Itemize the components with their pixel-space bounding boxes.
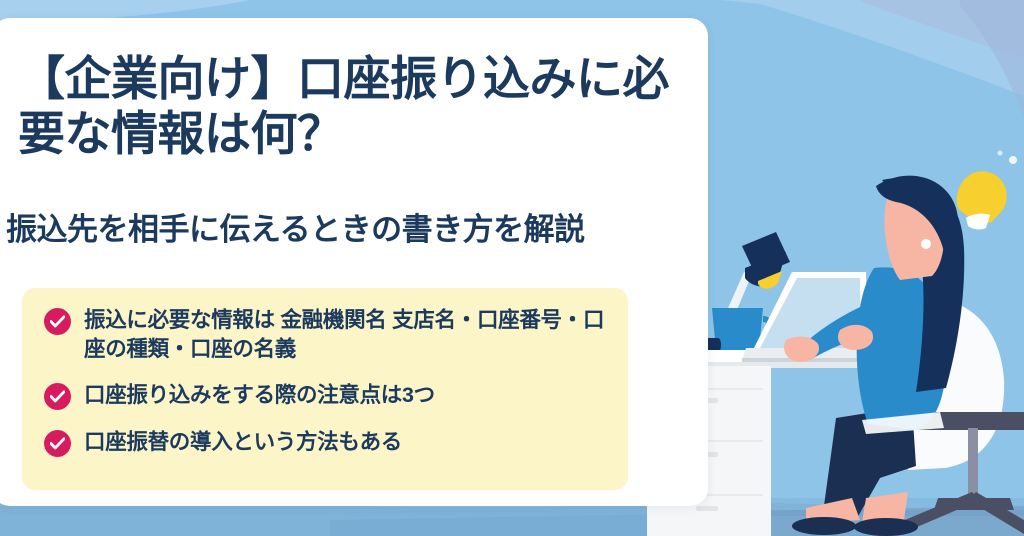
check-circle-icon <box>44 383 71 410</box>
shoe-right <box>854 518 918 536</box>
list-item-label: 口座振替の導入という方法もある <box>84 428 402 457</box>
shoe-left <box>792 517 856 535</box>
list-item: 口座振替の導入という方法もある <box>44 428 608 457</box>
lightbulb-idea-icon <box>957 151 1017 230</box>
list-item: 口座振り込みをする際の注意点は3つ <box>44 381 608 410</box>
key-points-panel: 振込に必要な情報は 金融機関名 支店名・口座番号・口座の種類・口座の名義 口座振… <box>22 288 628 490</box>
page-title: 【企業向け】口座振り込みに必要な情報は何？ <box>18 52 694 161</box>
hand-right <box>838 325 873 350</box>
list-item-label: 振込に必要な情報は 金融機関名 支店名・口座番号・口座の種類・口座の名義 <box>84 306 608 363</box>
list-item-label: 口座振り込みをする際の注意点は3つ <box>84 381 435 410</box>
check-circle-icon <box>44 308 71 335</box>
headline-card: 【企業向け】口座振り込みに必要な情報は何？ 振込先を相手に伝えるときの書き方を解… <box>0 18 708 506</box>
list-item: 振込に必要な情報は 金融機関名 支店名・口座番号・口座の種類・口座の名義 <box>44 306 608 363</box>
check-circle-icon <box>44 430 71 457</box>
woman-seated-figure <box>784 176 964 536</box>
earring <box>921 239 931 249</box>
page-subtitle: 振込先を相手に伝えるときの書き方を解説 <box>6 211 706 248</box>
